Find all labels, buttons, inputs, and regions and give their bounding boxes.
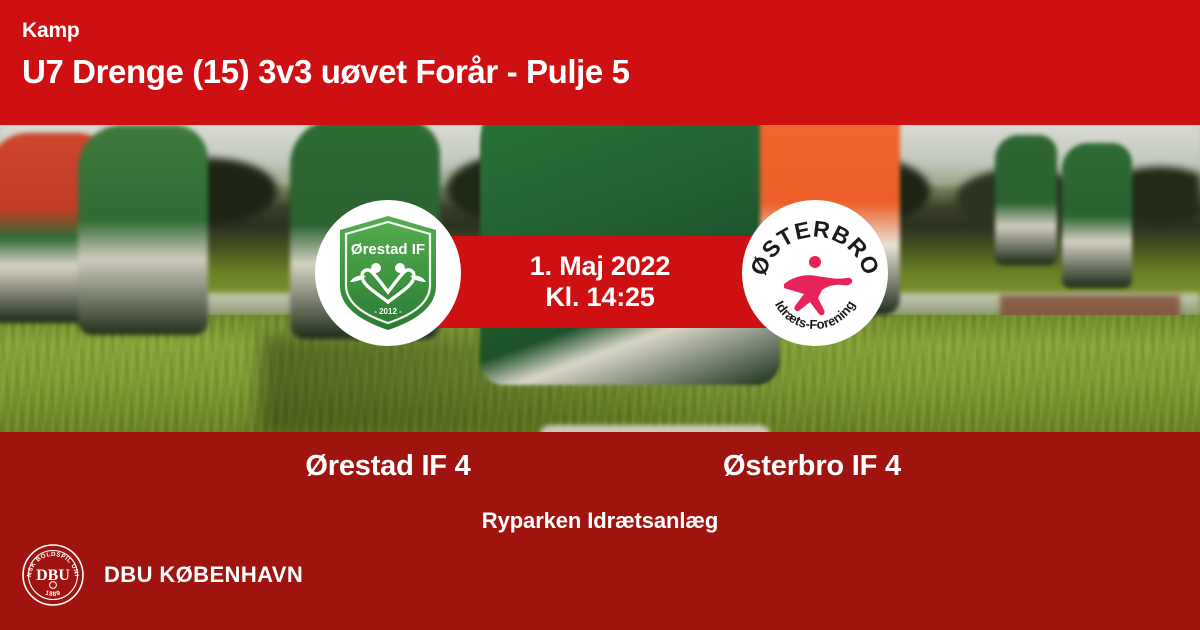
osterbro-if-logo-icon: ØSTERBRO Idræts-Forening <box>748 206 882 340</box>
poster-header: Kamp U7 Drenge (15) 3v3 uøvet Forår - Pu… <box>0 0 1200 125</box>
away-team-badge: ØSTERBRO Idræts-Forening <box>742 200 888 346</box>
header-kicker: Kamp <box>22 20 1200 41</box>
match-poster: Kamp U7 Drenge (15) 3v3 uøvet Forår - Pu… <box>0 0 1200 630</box>
home-team-name: Ørestad IF 4 <box>178 450 598 483</box>
away-team-name: Østerbro IF 4 <box>602 450 1022 483</box>
organization-footer: DANSK BOLDSPIL UNION DBU 1889 DBU KØBENH… <box>22 544 303 606</box>
teams-row: Ørestad IF 4 Østerbro IF 4 <box>0 450 1200 483</box>
svg-text:ØSTERBRO: ØSTERBRO <box>748 215 882 278</box>
match-venue: Ryparken Idrætsanlæg <box>0 508 1200 534</box>
organization-name: DBU KØBENHAVN <box>104 562 303 588</box>
photo-player-green-left <box>78 125 208 335</box>
photo-player-distant-left <box>995 135 1057 265</box>
photo-player-legs <box>540 425 770 432</box>
home-team-badge: Ørestad IF - 2012 - <box>315 200 461 346</box>
photo-player-distant-right <box>1062 143 1132 288</box>
svg-text:Ørestad IF: Ørestad IF <box>351 241 425 258</box>
poster-footer-section: Ørestad IF 4 Østerbro IF 4 Ryparken Idræ… <box>0 432 1200 630</box>
match-date: 1. Maj 2022 <box>530 251 670 282</box>
dbu-seal-icon: DANSK BOLDSPIL UNION DBU 1889 <box>22 544 84 606</box>
svg-text:- 2012 -: - 2012 - <box>374 307 402 316</box>
orestad-if-crest-icon: Ørestad IF - 2012 - <box>336 214 440 332</box>
page-title: U7 Drenge (15) 3v3 uøvet Forår - Pulje 5 <box>22 54 1200 90</box>
match-time: Kl. 14:25 <box>545 282 654 313</box>
